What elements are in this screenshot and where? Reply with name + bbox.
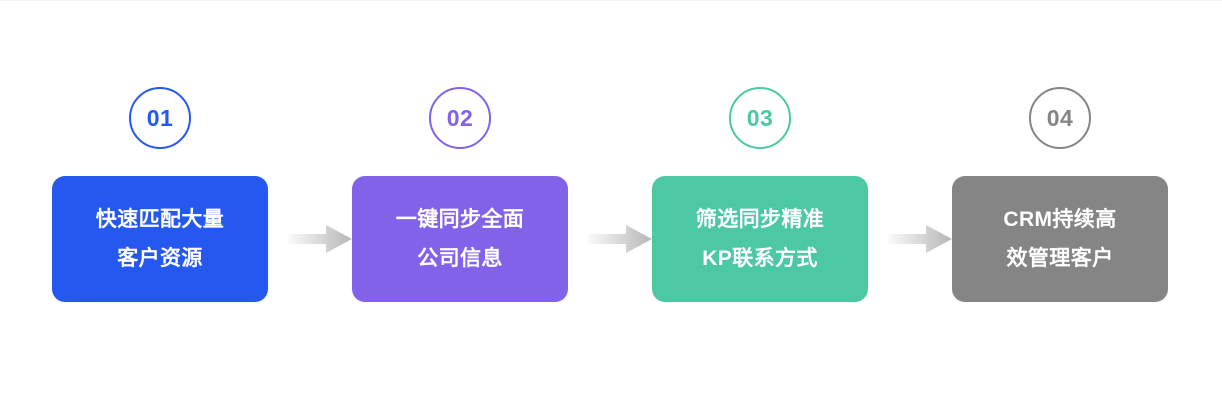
step-card-line2: KP联系方式 (702, 247, 818, 270)
step-card-3[interactable]: 筛选同步精准 KP联系方式 (652, 176, 868, 302)
step-number-label: 03 (747, 107, 774, 130)
step-card-line1: 快速匹配大量 (96, 208, 224, 231)
step-card-line2: 效管理客户 (1007, 247, 1114, 270)
step-card-line1: CRM持续高 (1003, 208, 1116, 231)
step-card-1[interactable]: 快速匹配大量 客户资源 (52, 176, 268, 302)
step-number-label: 02 (447, 107, 474, 130)
process-step-4[interactable]: 04 CRM持续高 效管理客户 (952, 87, 1168, 302)
process-step-1[interactable]: 01 快速匹配大量 客户资源 (52, 87, 268, 302)
step-number-badge-3: 03 (729, 87, 791, 149)
process-flow-diagram: 01 快速匹配大量 客户资源 (0, 0, 1222, 413)
step-number-badge-2: 02 (429, 87, 491, 149)
connector-arrow-2 (588, 223, 652, 255)
right-arrow-icon (288, 223, 352, 255)
right-arrow-icon (888, 223, 952, 255)
step-card-2[interactable]: 一键同步全面 公司信息 (352, 176, 568, 302)
process-step-2[interactable]: 02 一键同步全面 公司信息 (352, 87, 568, 302)
step-number-badge-1: 01 (129, 87, 191, 149)
connector-arrow-3 (888, 223, 952, 255)
process-step-3[interactable]: 03 筛选同步精准 KP联系方式 (652, 87, 868, 302)
connector-arrow-1 (288, 223, 352, 255)
step-number-label: 04 (1047, 107, 1074, 130)
step-card-4[interactable]: CRM持续高 效管理客户 (952, 176, 1168, 302)
step-number-label: 01 (147, 107, 174, 130)
step-card-line2: 公司信息 (417, 247, 503, 270)
step-card-line1: 一键同步全面 (396, 208, 524, 231)
step-number-badge-4: 04 (1029, 87, 1091, 149)
step-card-line1: 筛选同步精准 (696, 208, 824, 231)
step-card-line2: 客户资源 (117, 247, 203, 270)
flow-container: 01 快速匹配大量 客户资源 (0, 1, 1222, 413)
right-arrow-icon (588, 223, 652, 255)
